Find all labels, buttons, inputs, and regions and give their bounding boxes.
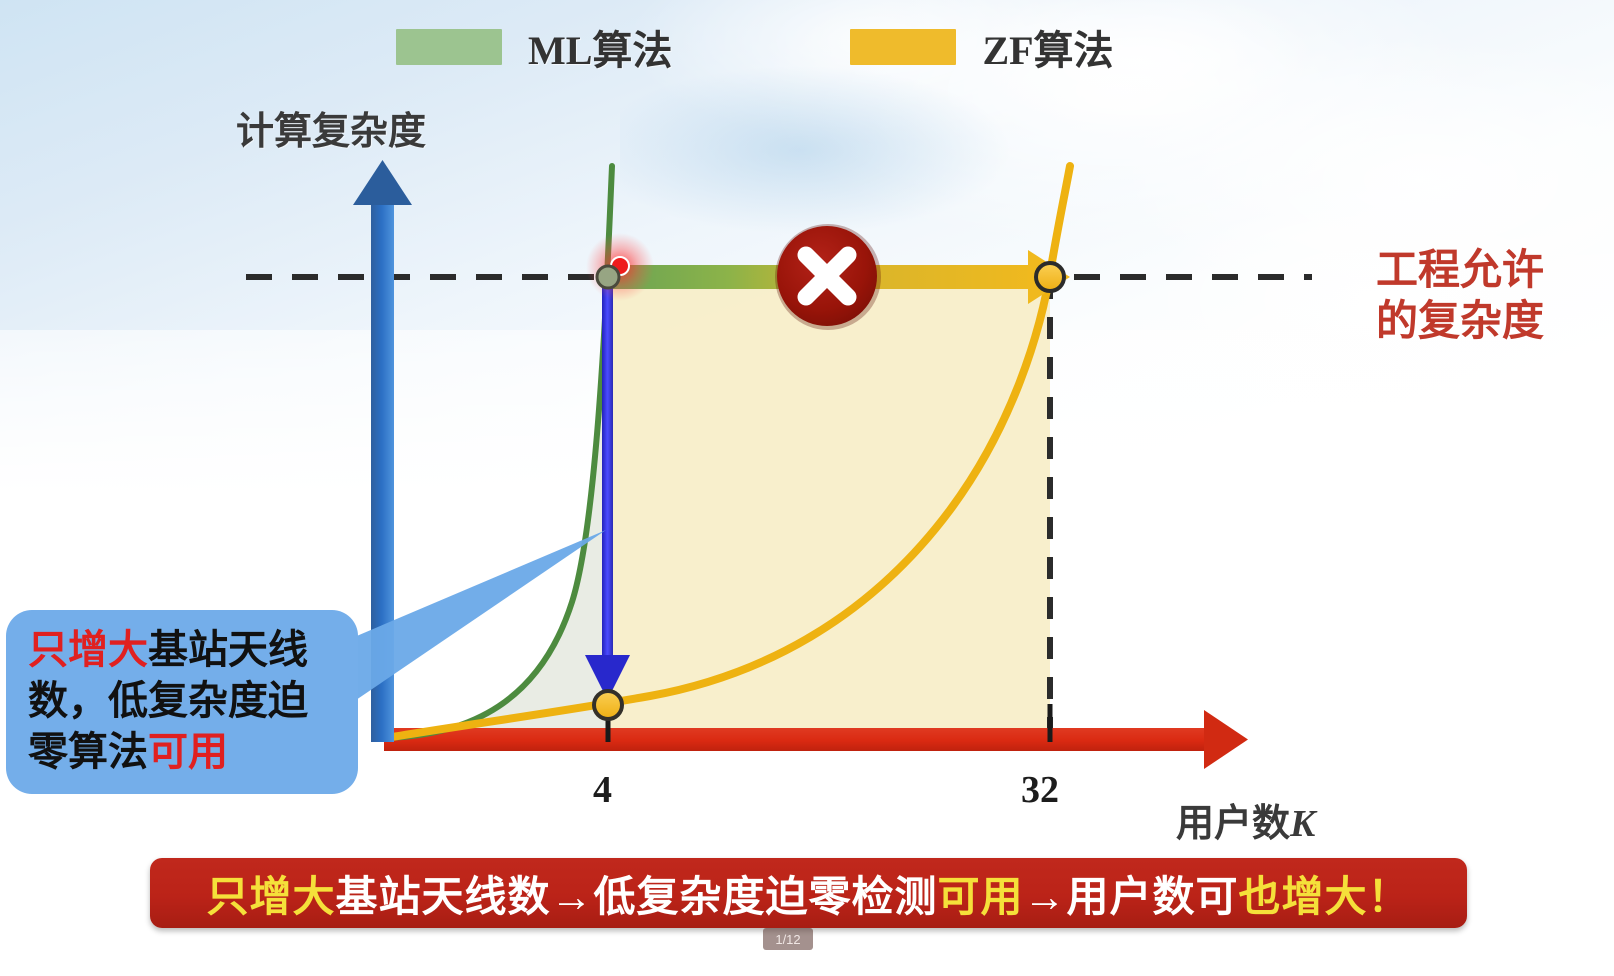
callout-line-3: 零算法可用 (28, 726, 342, 777)
point-ml-k4 (597, 266, 619, 288)
banner-highlight-3: 可用 (937, 875, 1023, 921)
x-tick-label-4: 4 (593, 768, 612, 812)
legend-item-zf: ZF算法 (850, 18, 1113, 76)
callout-highlight-1: 只增大 (28, 627, 148, 672)
callout-box: 只增大基站天线 数，低复杂度迫 零算法可用 (6, 610, 358, 794)
legend-label-ml: ML算法 (528, 18, 672, 76)
slide-canvas: ML算法 ZF算法 (0, 0, 1614, 976)
legend-label-zf: ZF算法 (982, 18, 1113, 76)
callout-line-2: 数，低复杂度迫 (28, 675, 342, 726)
callout-highlight-3: 可用 (148, 729, 228, 774)
x-tick-label-32: 32 (1021, 768, 1059, 812)
legend-swatch-yellow-icon (850, 29, 956, 65)
threshold-annotation-line1: 工程允许 (1376, 246, 1544, 297)
banner-highlight-5: 也增大！ (1239, 875, 1411, 921)
x-axis-title-symbol: K (1290, 803, 1315, 845)
banner-text-4: →用户数可 (1024, 875, 1239, 921)
y-axis-title: 计算复杂度 (236, 100, 426, 155)
summary-banner-text: 只增大基站天线数→低复杂度迫零检测可用→用户数可也增大！ (206, 863, 1410, 924)
callout-text-3: 零算法 (28, 729, 148, 774)
callout-text-1: 基站天线 (148, 627, 308, 672)
page-indicator: 1/12 (763, 928, 813, 950)
callout-line-1: 只增大基站天线 (28, 624, 342, 675)
summary-banner: 只增大基站天线数→低复杂度迫零检测可用→用户数可也增大！ (150, 858, 1467, 928)
banner-highlight-1: 只增大 (206, 875, 335, 921)
zf-feasible-region (608, 277, 1050, 738)
x-axis-title: 用户数K (1176, 792, 1315, 847)
threshold-annotation-line2: 的复杂度 (1376, 297, 1544, 348)
legend-item-ml: ML算法 (396, 18, 672, 76)
x-axis-title-text: 用户数 (1176, 803, 1290, 845)
banner-text-2: 基站天线数→低复杂度迫零检测 (335, 875, 937, 921)
legend-swatch-green-icon (396, 29, 502, 65)
blocked-x-icon (775, 224, 881, 330)
threshold-annotation: 工程允许 的复杂度 (1376, 246, 1544, 348)
chart-legend: ML算法 ZF算法 (396, 18, 1114, 76)
point-zf-k32 (1036, 263, 1064, 291)
point-zf-k4 (594, 691, 622, 719)
ml-region-fill (386, 277, 608, 738)
